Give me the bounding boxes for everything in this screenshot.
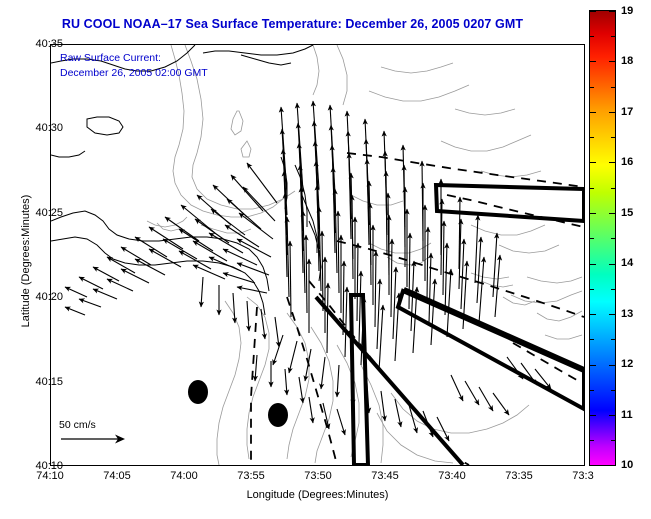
temperature-colorbar <box>589 10 616 466</box>
xtick-label: 74:00 <box>170 470 198 482</box>
velocity-scale-key: 50 cm/s <box>59 419 129 451</box>
colorbar-tick-label: 17 <box>621 106 633 118</box>
xtick-label: 73:40 <box>438 470 466 482</box>
colorbar-tick-label: 18 <box>621 55 633 67</box>
xtick-label: 73:35 <box>505 470 533 482</box>
y-axis-label: Latitude (Degrees:Minutes) <box>20 156 32 366</box>
xtick-label: 73:3 <box>572 470 593 482</box>
colorbar-tick-label: 14 <box>621 257 633 269</box>
colorbar-tick-label: 12 <box>621 358 633 370</box>
figure-title: RU COOL NOAA–17 Sea Surface Temperature:… <box>0 17 585 31</box>
colorbar-tick-label: 16 <box>621 156 633 168</box>
right-arrow-icon <box>59 432 129 446</box>
x-axis-label: Longitude (Degrees:Minutes) <box>50 489 585 501</box>
colorbar-tick-label: 19 <box>621 5 633 17</box>
colorbar-tick-label: 11 <box>621 409 633 421</box>
colorbar-tick-label: 15 <box>621 207 633 219</box>
map-plot-area[interactable]: Raw Surface Current: December 26, 2005 0… <box>50 44 585 466</box>
colorbar-tick-label: 13 <box>621 308 633 320</box>
xtick-label: 74:05 <box>103 470 131 482</box>
sst-current-figure: RU COOL NOAA–17 Sea Surface Temperature:… <box>0 0 651 519</box>
scale-key-label: 50 cm/s <box>59 419 129 431</box>
colorbar-tick-label: 10 <box>621 459 633 471</box>
xtick-label: 73:45 <box>371 470 399 482</box>
xtick-label: 73:50 <box>304 470 332 482</box>
xtick-label: 73:55 <box>237 470 265 482</box>
surface-current-quiver-field <box>51 45 584 465</box>
xtick-label: 74:10 <box>36 470 64 482</box>
